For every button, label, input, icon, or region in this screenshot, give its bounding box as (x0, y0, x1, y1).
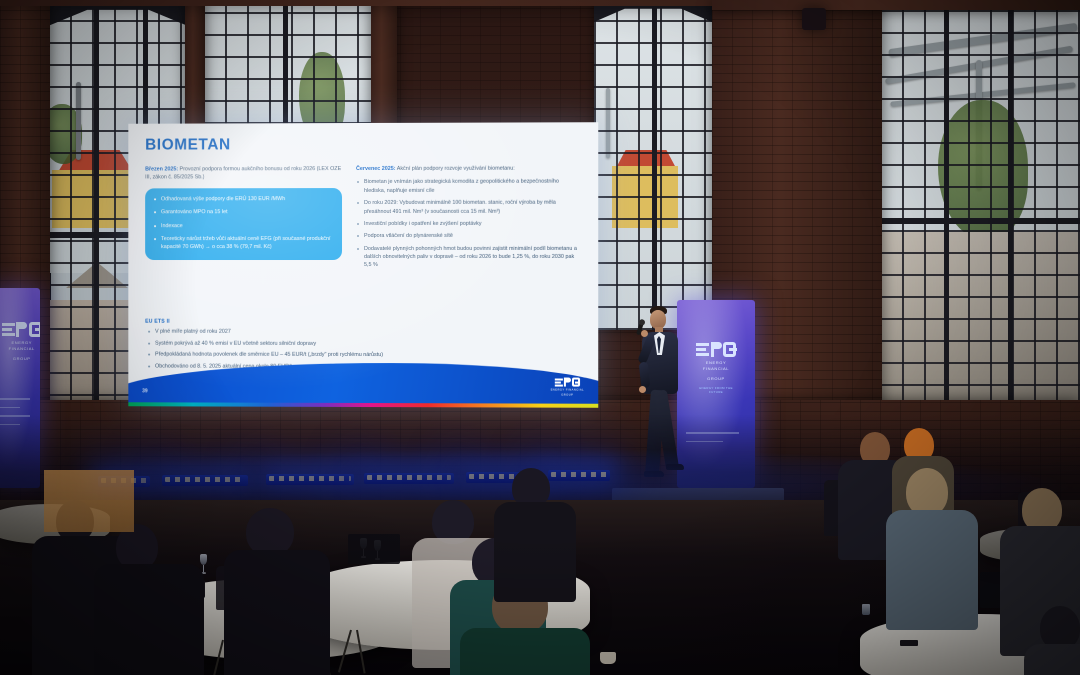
person-body (460, 628, 590, 675)
left-lead-text: Březen 2025: Provozní podpora formou auk… (145, 165, 342, 182)
list-item: Dodavatelé plynných pohonných hmot budou… (356, 245, 579, 270)
wall-lamp (802, 8, 826, 30)
banner-line (0, 398, 30, 400)
presentation-photo-scene: BIOMETAN Březen 2025: Provozní podpora f… (0, 0, 1080, 675)
slide-footer: 39 ENERGY FINANCIAL GROUP (128, 362, 598, 407)
slide-page-number: 39 (142, 388, 148, 394)
speaker-hand-lower (639, 386, 646, 393)
projected-slide: BIOMETAN Březen 2025: Provozní podpora f… (128, 122, 598, 408)
slide-right-column: Červenec 2025: Akční plán podpory rozvoj… (356, 164, 579, 273)
slide-title: BIOMETAN (145, 136, 231, 154)
efg-logo: ENERGY FINANCIAL GROUP (551, 378, 584, 398)
person-body (494, 502, 576, 602)
window-right-a (594, 0, 712, 330)
efg-logo-mark (551, 378, 584, 387)
slide-left-column: Březen 2025: Provozní podpora formou auk… (145, 165, 342, 260)
person-body (224, 550, 330, 675)
window-pane-grid-right-b (880, 0, 1080, 430)
right-bullet-list: Biometan je vnímán jako strategická komo… (356, 178, 579, 270)
list-item: Investiční pobídky i opatření ke zvýšení… (356, 220, 579, 229)
window-right-b (880, 0, 1080, 430)
window-mullion-right-b2 (1008, 0, 1013, 430)
window-mullion-right-a (652, 0, 657, 330)
person-body (886, 510, 978, 630)
banner-g-glyph (723, 342, 736, 357)
phone-on-table (900, 640, 918, 646)
banner-g-glyph-left (29, 322, 40, 337)
right-lead-rest: Akční plán podpory rozvoje využívání bio… (396, 166, 515, 172)
banner-e-glyph-left (2, 323, 15, 336)
wall-beam-right (712, 0, 1080, 10)
efg-logo-subtitle-2: GROUP (551, 394, 584, 398)
list-item: Indexace (153, 222, 334, 231)
banner-logo-mark-left (2, 322, 40, 337)
window-mullion-vertical (94, 0, 99, 440)
window-mullion-right-b1 (944, 0, 949, 430)
banner-logo-left: ENERGY FINANCIAL GROUP (2, 322, 40, 362)
laptop-on-table (348, 534, 400, 564)
list-item: Garantováno MPO na 15 let (153, 208, 334, 217)
banner-subtitle-1-left: ENERGY FINANCIAL (2, 340, 40, 353)
highlight-bullet-list: Odhadovaná výše podpory dle ERÚ 130 EUR … (153, 195, 334, 252)
highlight-box: Odhadovaná výše podpory dle ERÚ 130 EUR … (145, 188, 342, 260)
cardboard-panel (44, 470, 134, 532)
list-item: Systém pokrývá až 40 % emisí v EU včetně… (145, 339, 565, 348)
ets-heading: EU ETS II (145, 319, 565, 326)
left-lead-bold: Březen 2025: (145, 166, 178, 172)
banner-line (0, 407, 20, 409)
right-lead-bold: Červenec 2025: (356, 166, 396, 172)
window-transom-right-b (880, 218, 1080, 224)
person-head (246, 508, 294, 556)
banner-subtitle-2-left: GROUP (2, 356, 40, 362)
list-item: Do roku 2029: Vybudovat minimálně 100 bi… (356, 199, 579, 216)
efg-logo-subtitle-1: ENERGY FINANCIAL (551, 388, 584, 392)
list-item: Odhadovaná výše podpory dle ERÚ 130 EUR … (153, 195, 334, 204)
list-item: Biometan je vnímán jako strategická komo… (356, 178, 579, 195)
right-lead-text: Červenec 2025: Akční plán podpory rozvoj… (356, 164, 579, 173)
person-head (906, 468, 948, 516)
footer-wave-shape (128, 362, 598, 407)
cup-on-table (600, 652, 616, 664)
person-body (1024, 644, 1080, 675)
efg-e-glyph (555, 378, 563, 386)
list-item: Teoreticky nárůst tržeb vůči aktuální ce… (153, 235, 334, 252)
list-item: Předpokládaná hodnota povolenek dle směr… (145, 351, 565, 360)
list-item: V plné míře platný od roku 2027 (145, 328, 565, 337)
speaker-hand-holding-mic (641, 330, 648, 337)
list-item: Podpora vtláčení do plynárenské sítě (356, 232, 579, 241)
efg-f-glyph (564, 378, 571, 387)
person-body (94, 564, 204, 675)
water-glass (862, 604, 870, 615)
efg-g-glyph (572, 378, 580, 387)
banner-f-glyph-left (16, 322, 27, 337)
